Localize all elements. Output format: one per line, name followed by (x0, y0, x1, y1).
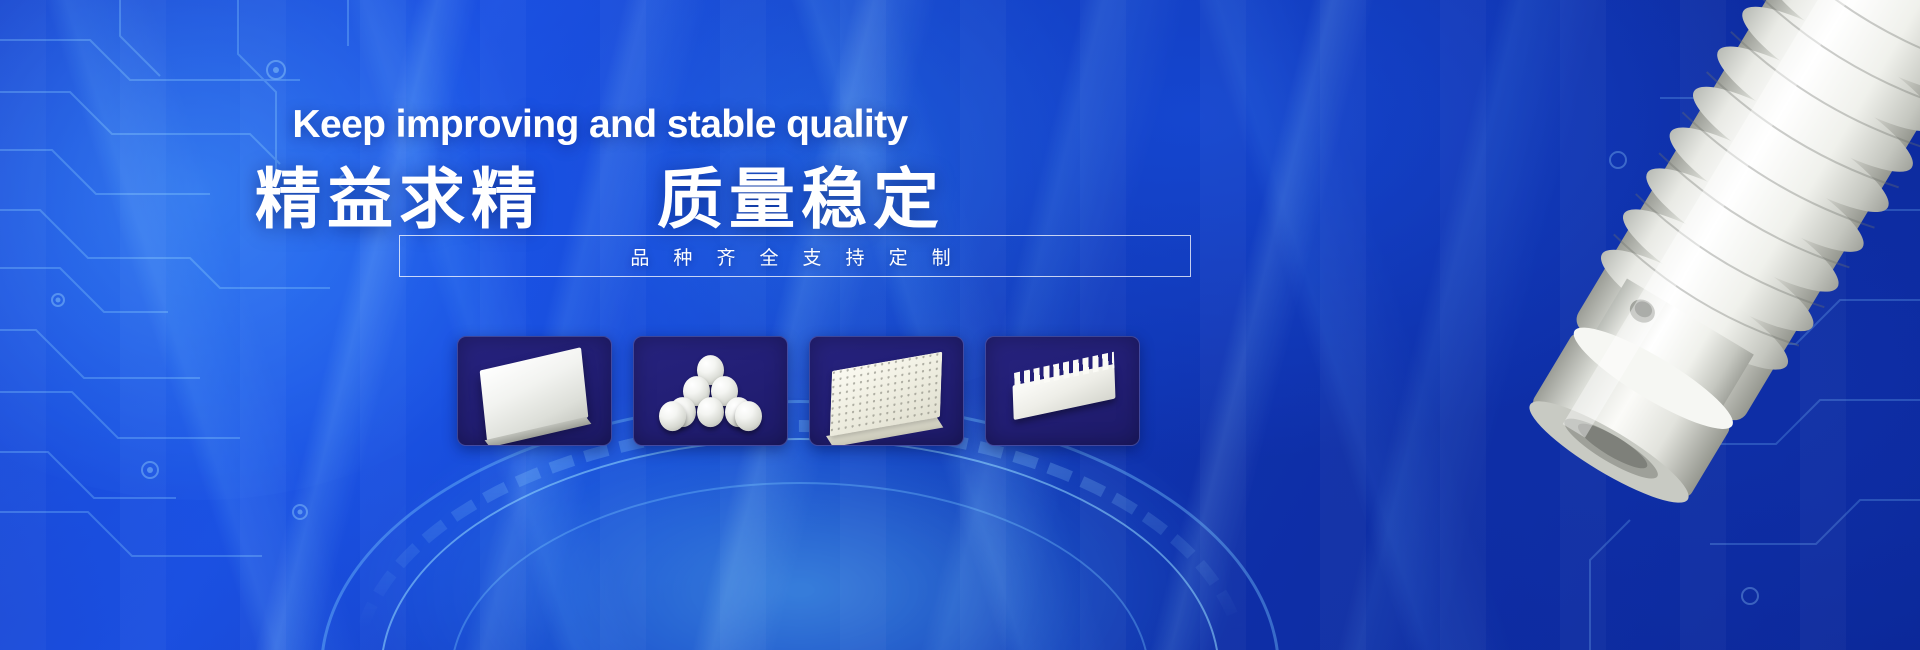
ceramic-comb-icon (986, 337, 1139, 445)
circuit-trace-right-icon (1500, 0, 1920, 650)
product-thumbnail-row (457, 336, 1140, 446)
subtitle-box: 品 种 齐 全 支 持 定 制 (399, 235, 1191, 277)
headline-block: Keep improving and stable quality 精益求精 质… (0, 0, 1200, 650)
ceramic-balls-icon (634, 337, 787, 445)
eyebrow-tagline: Keep improving and stable quality (0, 103, 1200, 147)
honeycomb-ceramic-icon (810, 337, 963, 445)
headline-right-text: 质量稳定 (657, 161, 945, 238)
subtitle-text: 品 种 齐 全 支 持 定 制 (630, 243, 959, 270)
promo-banner: Keep improving and stable quality 精益求精 质… (0, 0, 1920, 650)
ceramic-comb-thumbnail[interactable] (985, 336, 1140, 446)
main-headline: 精益求精 质量稳定 (0, 146, 1200, 242)
honeycomb-ceramic-thumbnail[interactable] (809, 336, 964, 446)
ceramic-plate-icon (458, 337, 611, 445)
headline-left-text: 精益求精 (255, 161, 543, 238)
ceramic-plate-thumbnail[interactable] (457, 336, 612, 446)
ceramic-balls-thumbnail[interactable] (633, 336, 788, 446)
